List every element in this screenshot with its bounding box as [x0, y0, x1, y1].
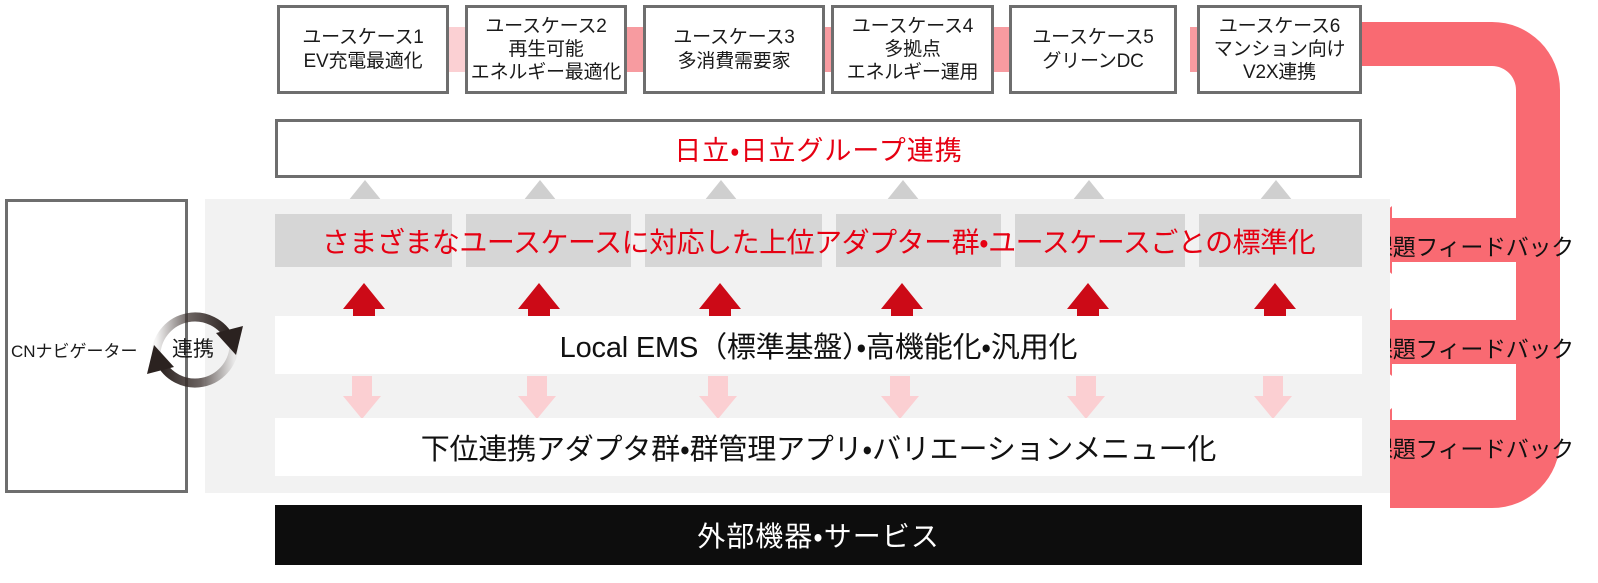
- use-case-box-3[interactable]: ユースケース3 多消費需要家: [643, 5, 825, 94]
- pink-down-arrow-2: [518, 376, 556, 419]
- use-case-label-2: ユースケース2 再生可能 エネルギー最適化: [471, 15, 621, 85]
- use-case-box-1[interactable]: ユースケース1 EV充電最適化: [277, 5, 449, 94]
- use-case-box-2[interactable]: ユースケース2 再生可能 エネルギー最適化: [465, 5, 627, 94]
- upper-adapter-label: さまざまなユースケースに対応した上位アダプター群・ユースケースごとの標準化: [275, 214, 1362, 267]
- use-case-box-6[interactable]: ユースケース6 マンション向け V2X連携: [1197, 5, 1362, 94]
- use-case-connector-2-3: [626, 27, 644, 72]
- use-case-box-4[interactable]: ユースケース4 多拠点 エネルギー運用: [831, 5, 994, 94]
- use-case-connector-1-2: [448, 27, 466, 72]
- lower-adapter-label: 下位連携アダプタ群・群管理アプリ・バリエーションメニュー化: [421, 426, 1216, 468]
- feedback-label-1: 課題フィードバック: [1370, 228, 1574, 262]
- hitachi-collaboration-bar[interactable]: 日立・日立グループ連携: [275, 119, 1362, 178]
- exchange-cycle-icon: [140, 295, 250, 405]
- use-case-label-3: ユースケース3 多消費需要家: [673, 26, 794, 72]
- diagram-canvas: 課題フィードバック 課題フィードバック 課題フィードバック ユースケース1 EV…: [0, 0, 1598, 583]
- local-ems-row[interactable]: Local EMS（標準基盤）・高機能化・汎用化: [275, 316, 1362, 374]
- external-devices-label: 外部機器・サービス: [697, 515, 940, 555]
- feedback-label-2: 課題フィードバック: [1370, 330, 1574, 364]
- lower-adapter-row[interactable]: 下位連携アダプタ群・群管理アプリ・バリエーションメニュー化: [275, 418, 1362, 476]
- hitachi-collaboration-label: 日立・日立グループ連携: [674, 129, 963, 168]
- cn-navigator-label: CNナビゲーター: [11, 337, 138, 362]
- pink-down-arrow-1: [343, 376, 381, 419]
- pink-down-arrow-6: [1254, 376, 1292, 419]
- pink-down-arrow-3: [699, 376, 737, 419]
- pink-down-arrow-5: [1067, 376, 1105, 419]
- use-case-label-4: ユースケース4 多拠点 エネルギー運用: [847, 15, 979, 85]
- use-case-label-5: ユースケース5 グリーンDC: [1032, 26, 1153, 72]
- pink-down-arrow-4: [881, 376, 919, 419]
- external-devices-bar[interactable]: 外部機器・サービス: [275, 505, 1362, 565]
- use-case-label-6: ユースケース6 マンション向け V2X連携: [1214, 15, 1346, 85]
- use-case-label-1: ユースケース1 EV充電最適化: [302, 26, 423, 72]
- feedback-label-3: 課題フィードバック: [1370, 430, 1574, 464]
- local-ems-label: Local EMS（標準基盤）・高機能化・汎用化: [560, 324, 1078, 366]
- use-case-box-5[interactable]: ユースケース5 グリーンDC: [1009, 5, 1177, 94]
